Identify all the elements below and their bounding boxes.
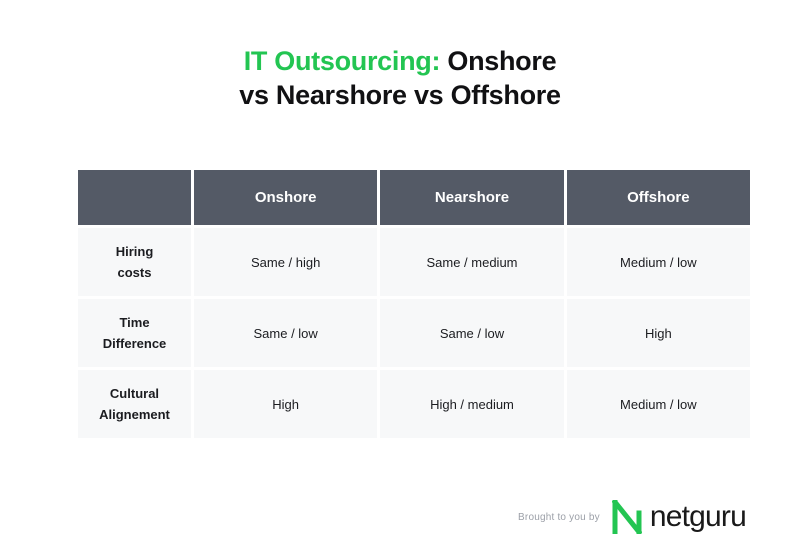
table-cell-hiring-costs-onshore: Same / high xyxy=(194,228,377,296)
table-row: Hiring costs Same / high Same / medium M… xyxy=(78,228,750,296)
table-corner-cell xyxy=(78,170,191,225)
row-label-line-2: Difference xyxy=(103,333,167,354)
footer-kicker-text: Brought to you by xyxy=(518,512,600,523)
table-column-header-offshore: Offshore xyxy=(567,170,750,225)
row-label-line-1: Hiring xyxy=(116,241,154,262)
table-cell-time-difference-nearshore: Same / low xyxy=(380,299,563,367)
table-cell-hiring-costs-offshore: Medium / low xyxy=(567,228,750,296)
table-cell-cultural-alignement-offshore: Medium / low xyxy=(567,370,750,438)
table-cell-cultural-alignement-onshore: High xyxy=(194,370,377,438)
table-row-label-time-difference: Time Difference xyxy=(78,299,191,367)
page-title-line-1: IT Outsourcing: Onshore xyxy=(0,44,800,78)
table-row: Time Difference Same / low Same / low Hi… xyxy=(78,299,750,367)
table-row: Cultural Alignement High High / medium M… xyxy=(78,370,750,438)
table-row-label-cultural-alignement: Cultural Alignement xyxy=(78,370,191,438)
table-cell-time-difference-onshore: Same / low xyxy=(194,299,377,367)
table-column-header-onshore: Onshore xyxy=(194,170,377,225)
netguru-logo: netguru xyxy=(612,500,746,534)
row-label-line-1: Cultural xyxy=(99,383,170,404)
page-title: IT Outsourcing: Onshore vs Nearshore vs … xyxy=(0,44,800,112)
table-cell-hiring-costs-nearshore: Same / medium xyxy=(380,228,563,296)
table-cell-cultural-alignement-nearshore: High / medium xyxy=(380,370,563,438)
page-title-accent: IT Outsourcing: xyxy=(244,46,440,76)
row-label-line-2: costs xyxy=(116,262,154,283)
footer-branding: Brought to you by netguru xyxy=(518,500,746,534)
comparison-table: Onshore Nearshore Offshore Hiring costs … xyxy=(78,170,750,438)
netguru-n-icon xyxy=(612,500,642,534)
row-label-line-1: Time xyxy=(103,312,167,333)
row-label-line-2: Alignement xyxy=(99,404,170,425)
table-column-header-nearshore: Nearshore xyxy=(380,170,563,225)
page-title-line-2: vs Nearshore vs Offshore xyxy=(0,78,800,112)
table-row-label-hiring-costs: Hiring costs xyxy=(78,228,191,296)
page-title-line-1-rest: Onshore xyxy=(440,46,556,76)
netguru-wordmark: netguru xyxy=(650,502,746,532)
table-header-row: Onshore Nearshore Offshore xyxy=(78,170,750,225)
table-cell-time-difference-offshore: High xyxy=(567,299,750,367)
